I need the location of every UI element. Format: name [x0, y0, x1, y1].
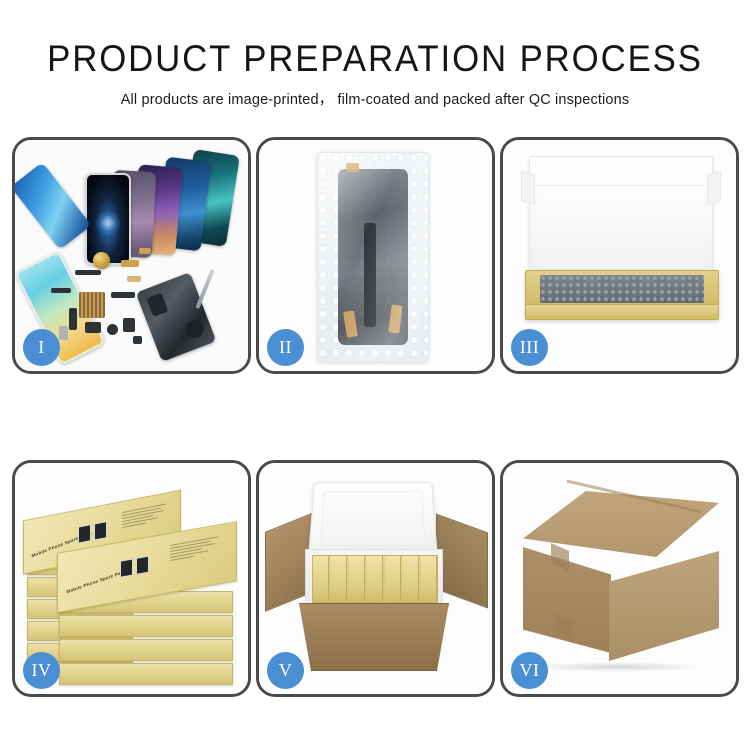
- yellow-box-icon: [367, 556, 383, 602]
- process-step-panel-3[interactable]: III: [500, 137, 739, 374]
- step-badge-2: II: [267, 329, 304, 366]
- process-step-panel-1[interactable]: I: [12, 137, 251, 374]
- gold-contact-icon: [139, 248, 151, 254]
- flex-cable-icon: [127, 276, 141, 282]
- step-badge-6: VI: [511, 652, 548, 689]
- vibration-motor-icon: [93, 252, 110, 269]
- step-badge-5: V: [267, 652, 304, 689]
- carton-body-icon: [299, 603, 449, 671]
- lid-tab-right-icon: [707, 171, 721, 205]
- process-step-panel-5[interactable]: V: [256, 460, 495, 697]
- yellow-box-icon: [313, 556, 329, 602]
- yellow-box-icon: [385, 556, 401, 602]
- process-step-panel-2[interactable]: II: [256, 137, 495, 374]
- speaker-icon: [107, 324, 118, 335]
- bubble-wrap-pouch-icon: [317, 152, 429, 362]
- yellow-boxes-inside: [312, 555, 438, 603]
- page-subtitle: All products are image-printed， film-coa…: [0, 79, 750, 109]
- wrapped-flex-cable-icon: [364, 223, 376, 327]
- antenna-strip-icon: [51, 288, 71, 293]
- page-title: PRODUCT PREPARATION PROCESS: [23, 0, 728, 79]
- box-front-panel-icon: [526, 304, 718, 319]
- chip-grid-icon: [79, 292, 105, 318]
- carton-shadow: [529, 662, 709, 672]
- process-step-panel-6[interactable]: VI: [500, 460, 739, 697]
- sim-tray-icon: [59, 326, 68, 340]
- ribbon-cable-icon: [111, 292, 135, 298]
- side-button-icon: [69, 308, 77, 330]
- box-thumb-icon: [136, 556, 149, 575]
- foam-lid-icon: [529, 156, 713, 280]
- stacked-box-slab: [59, 663, 233, 685]
- lid-tab-left-icon: [521, 171, 535, 205]
- yellow-box-icon: [421, 556, 437, 602]
- spare-part-strip-icon: [75, 270, 101, 275]
- yellow-box-tray-icon: [525, 270, 719, 320]
- yellow-box-icon: [349, 556, 365, 602]
- step-badge-1: I: [23, 329, 60, 366]
- loudspeaker-icon: [123, 318, 135, 332]
- carton-right-face-icon: [609, 551, 719, 661]
- tape-top-icon: [346, 163, 359, 172]
- phone-screen-front-glass-icon: [85, 173, 131, 265]
- camera-module-icon: [85, 322, 101, 333]
- yellow-box-icon: [403, 556, 419, 602]
- box-thumb-icon: [94, 521, 107, 541]
- flex-connector-icon: [121, 260, 139, 267]
- yellow-box-icon: [331, 556, 347, 602]
- process-step-panel-4[interactable]: Mobile Phone Spare Parts Mobi: [12, 460, 251, 697]
- carton-inner-foam-icon: [305, 549, 443, 609]
- box-thumb-icon: [78, 524, 91, 544]
- box-stack: Mobile Phone Spare Parts Mobi: [21, 481, 247, 681]
- page-header: PRODUCT PREPARATION PROCESS All products…: [0, 0, 750, 109]
- screw-pack-icon: [133, 336, 142, 344]
- carton-flap-right-icon: [436, 514, 488, 609]
- process-step-grid: I II: [12, 137, 739, 697]
- stacked-box-slab: [59, 615, 233, 637]
- box-thumb-icon: [120, 558, 133, 577]
- grey-foam-insert-icon: [540, 275, 704, 303]
- stacked-box-slab: [59, 639, 233, 661]
- step-badge-3: III: [511, 329, 548, 366]
- step-badge-4: IV: [23, 652, 60, 689]
